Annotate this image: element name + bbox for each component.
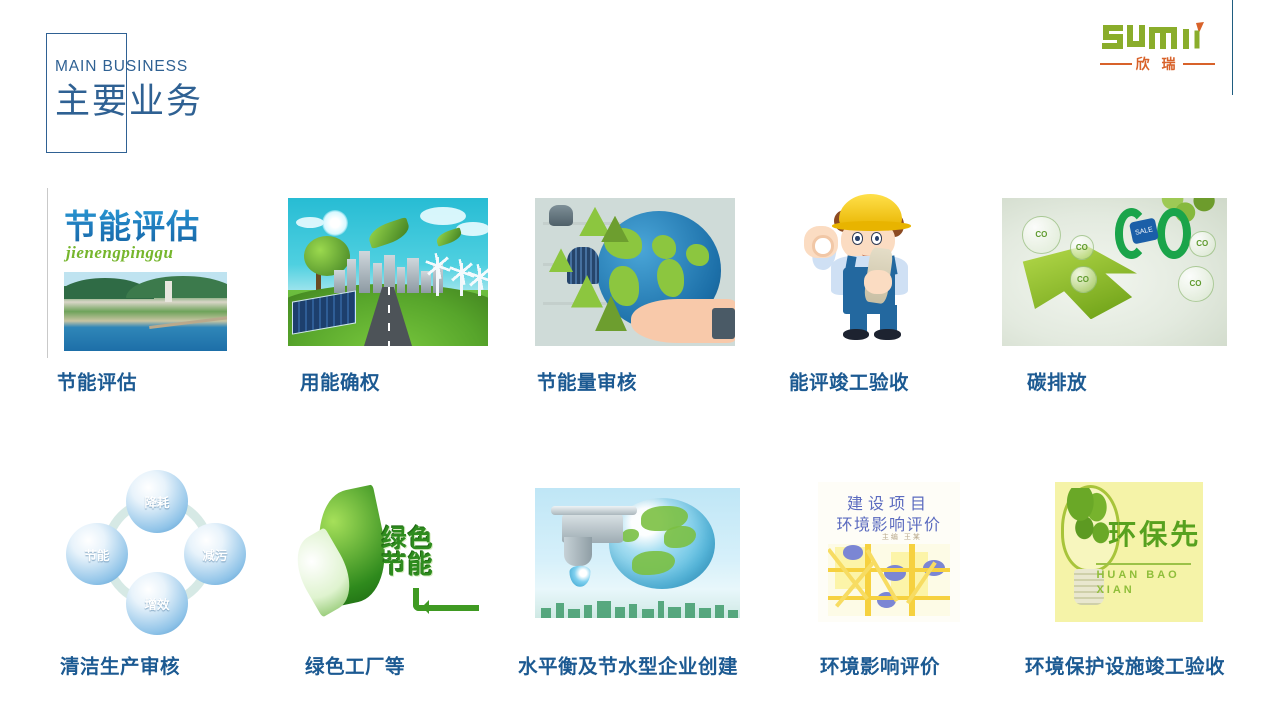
company-logo: 欣 瑞 [1100,20,1215,75]
cycle-node-top: 降耗 [126,470,188,533]
worker-shoe-right [874,329,900,340]
thumbnail-cleaner-production: 降耗 减污 增效 节能 [58,470,258,635]
cycle-node-bottom: 增效 [126,572,188,635]
sun-glow-icon [322,210,348,236]
worker-leg-left [850,305,868,332]
worker-eye-right [871,232,882,245]
leaf-logo-text: 绿色 节能 [382,505,480,600]
book-byline: 主编 王某 [882,532,922,542]
co2-bubble-3: CO [1070,266,1097,293]
co2-bubble-2: CO [1070,235,1095,260]
faucet-spout [564,537,593,566]
poster-photo [64,272,227,351]
co2-logo: SALE [1115,208,1192,258]
book-cover-artwork [828,544,950,617]
caption-4: 能评竣工验收 [789,366,909,395]
wind-turbine-2 [460,263,463,296]
page-title-english: MAIN BUSINESS [55,58,203,75]
page-title-chinese: 主要业务 [55,81,203,124]
page-title: MAIN BUSINESS 主要业务 [55,58,203,124]
logo-rule-right [1183,63,1215,65]
wind-turbine-1 [436,257,439,295]
cycle-node-right: 减污 [184,523,246,586]
slide-canvas: MAIN BUSINESS 主要业务 欣 瑞 [0,0,1280,720]
worker-hand-holding-wrench [864,270,892,294]
caption-3: 节能量审核 [537,366,637,395]
bulb-pinyin-line2: XIAN [1096,584,1134,596]
tower-shape [165,281,172,302]
caption-10: 环境保护设施竣工验收 [1025,650,1225,679]
leaf-shape-1 [366,217,412,249]
caption-7: 绿色工厂等 [305,650,405,679]
co2-bubble-4: CO [1189,231,1216,258]
thumbnail-water-balance [535,488,740,618]
leaf-text-line2: 节能 [382,552,480,578]
worker-shoe-left [843,329,869,340]
caption-2: 用能确权 [300,366,380,395]
thumbnail-eco-bulb: 环保先 HUAN BAO XIAN [1055,482,1203,622]
co2-bubble-5: CO [1178,266,1214,302]
city-silhouette [535,600,740,618]
logo-chinese-name: 欣 瑞 [1136,54,1180,74]
bulb-headline: 环保先 [1108,513,1201,553]
card-left-rule [47,188,48,358]
worker-ok-hand-icon [804,226,837,258]
caption-6: 清洁生产审核 [60,650,180,679]
poster-pinyin: jienengpinggu [66,243,233,263]
caption-1: 节能评估 [57,366,137,395]
worker-helmet-brim [832,221,911,230]
logo-wordmark [1100,20,1215,54]
thumbnail-green-factory: 绿色 节能 [288,478,483,626]
faucet-handle [551,506,637,515]
bulb-rule [1096,563,1191,565]
leaf-shape-2 [435,227,463,246]
co2-ring-o [1157,208,1191,258]
water-drop-icon [570,566,591,587]
wind-turbine-3 [478,268,481,296]
thumbnail-eco-city [288,198,488,346]
cycle-node-left: 节能 [66,523,128,586]
header-vertical-divider [1232,0,1233,95]
leaf-text-line1: 绿色 [382,526,480,552]
chimney-shape [549,205,573,226]
thumbnail-energy-saving-assessment: 节能评估 jienengpinggu [53,188,238,356]
caption-8: 水平衡及节水型企业创建 [518,650,738,679]
recycle-arrow-icon [413,588,479,612]
co2-bubble-1: CO [1022,216,1060,254]
caption-5: 碳排放 [1027,366,1087,395]
logo-chinese-name-row: 欣 瑞 [1100,54,1215,74]
logo-rule-left [1100,63,1132,65]
bridge-shape [149,316,227,329]
sale-badge: SALE [1129,218,1159,245]
hill-shape-2 [126,276,227,298]
cloud-shape-3 [296,217,324,228]
cloud-shape-1 [420,207,466,225]
hand-shape [631,299,735,343]
thumbnail-hand-globe [535,198,735,346]
worker-leg-right [880,305,898,332]
thumbnail-worker [785,188,960,346]
thumbnail-carbon-emission: SALE CO CO CO CO CO [1002,198,1227,346]
solar-panel-shape [567,247,599,284]
worker-eye-left [852,232,863,245]
bulb-pinyin-line1: HUAN BAO [1096,569,1179,581]
thumbnail-eia-book: 建设项目 环境影响评价 主编 王某 [818,482,960,622]
caption-9: 环境影响评价 [820,650,940,679]
